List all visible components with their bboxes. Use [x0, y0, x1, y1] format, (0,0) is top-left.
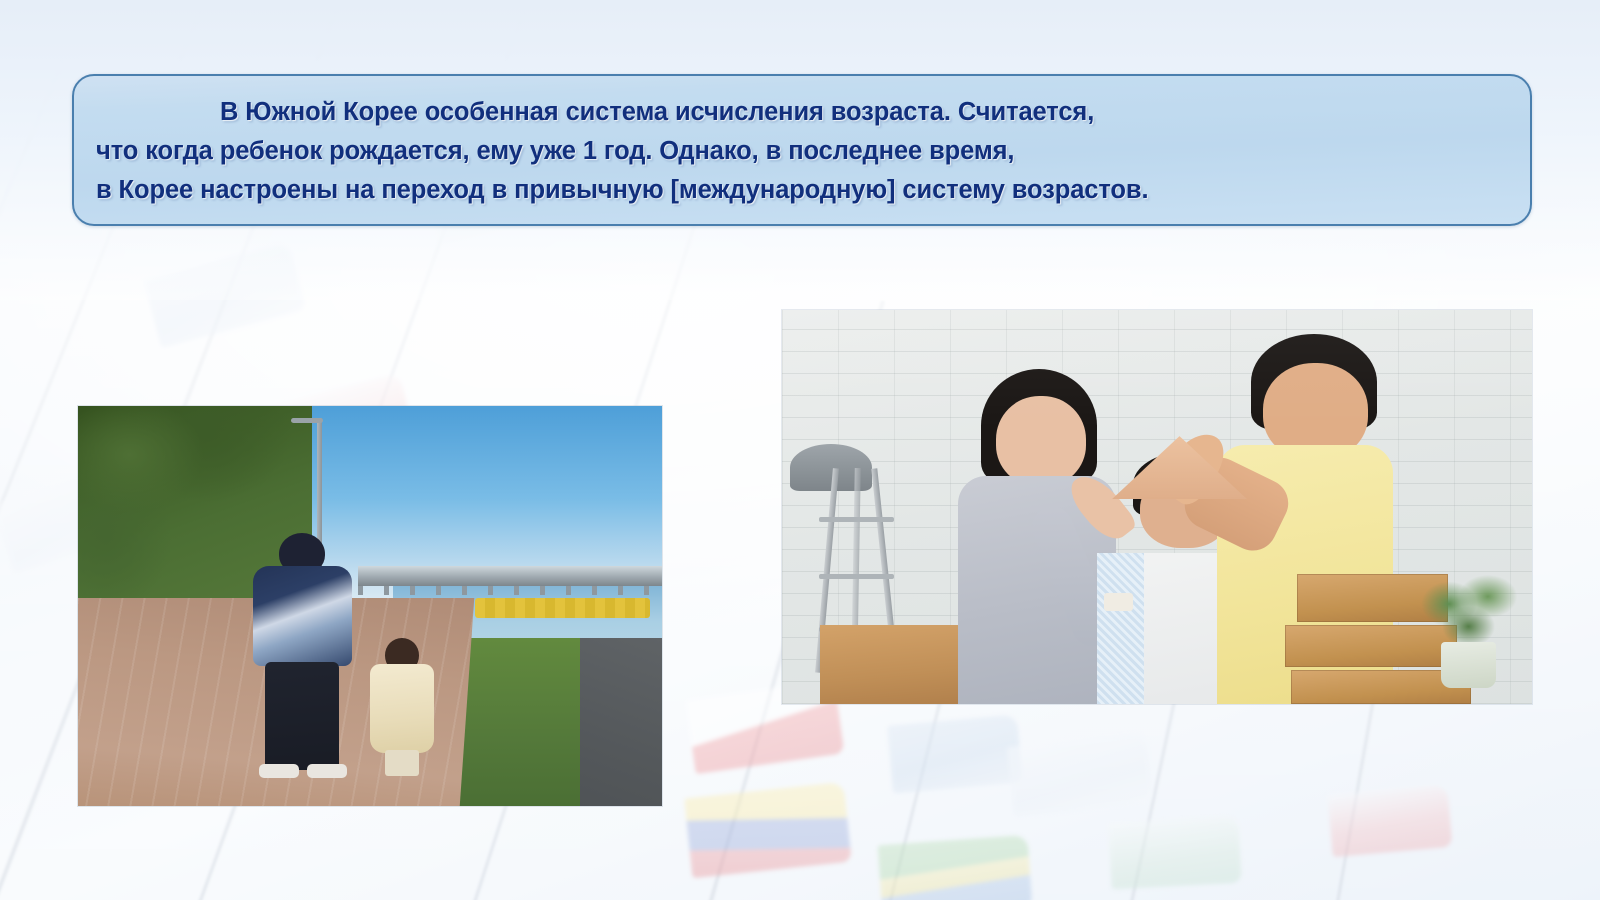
child-legs: [385, 750, 418, 776]
child-dress: [370, 664, 434, 753]
bridge: [358, 566, 662, 586]
boy-wristwatch: [1104, 593, 1133, 611]
caption-box: В Южной Корее особенная система исчислен…: [72, 74, 1532, 226]
ladder-step: [819, 574, 893, 579]
plant-leaves: [1420, 574, 1518, 649]
potted-plant: [1420, 578, 1518, 688]
father-torso: [253, 566, 352, 666]
ladder-step: [819, 517, 893, 522]
riverside-walk-photo: [78, 406, 662, 806]
road-barrier: [475, 598, 650, 618]
caption-line-1: В Южной Корее особенная система исчислен…: [96, 93, 1504, 132]
mother-head: [996, 396, 1086, 486]
plant-pot: [1441, 642, 1496, 688]
father-legs: [265, 662, 338, 770]
caption-line-2: что когда ребенок рождается, ему уже 1 г…: [96, 132, 1504, 171]
father-shoe-right: [307, 764, 347, 779]
family-house-gesture-photo: [782, 310, 1532, 704]
figure-father: [253, 566, 352, 774]
father-shoe-left: [259, 764, 299, 779]
caption-line-3: в Корее настроены на переход в привычную…: [96, 171, 1504, 210]
boy-shirt-left: [1097, 553, 1144, 704]
figure-child: [370, 638, 434, 782]
